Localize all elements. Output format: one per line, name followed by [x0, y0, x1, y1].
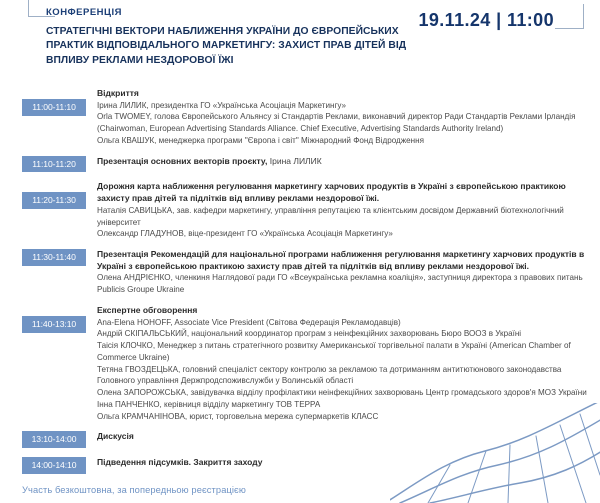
speaker-line: Олена АНДРІЄНКО, членкиня Наглядової рад…: [97, 272, 590, 295]
agenda-row: 11:30-11:40Презентація Рекомендацій для …: [0, 249, 600, 296]
speaker-line: Наталія САВИЦЬКА, зав. кафедри маркетинг…: [97, 205, 590, 228]
agenda-list: 11:00-11:10ВідкриттяІрина ЛИЛИК, президе…: [0, 88, 600, 483]
agenda-item-title: Презентація Рекомендацій для національно…: [97, 249, 590, 272]
agenda-item-title: Підведення підсумків. Закриття заходу: [97, 457, 590, 469]
agenda-row-body: Експертне обговоренняAna-Elena HOHOFF, A…: [86, 305, 590, 422]
speaker-line: Ольга КВАШУК, менеджерка програми "Європ…: [97, 135, 590, 147]
time-badge: 13:10-14:00: [22, 431, 86, 448]
agenda-row-body: Підведення підсумків. Закриття заходу: [86, 457, 590, 469]
speaker-line: Олена ЗАПОРОЖСЬКА, завідувачка відділу п…: [97, 387, 590, 399]
agenda-row-body: Презентація Рекомендацій для національно…: [86, 249, 590, 296]
agenda-item-title: Відкриття: [97, 88, 590, 100]
speaker-line: Ольга КРАМЧАНІНОВА, юрист, торговельна м…: [97, 411, 590, 423]
agenda-item-title-main: Відкриття: [97, 88, 139, 98]
agenda-row: 11:20-11:30Дорожня карта наближення регу…: [0, 181, 600, 240]
time-badge: 11:00-11:10: [22, 99, 86, 116]
agenda-item-title: Дорожня карта наближення регулювання мар…: [97, 181, 590, 204]
agenda-item-title-main: Підведення підсумків. Закриття заходу: [97, 457, 262, 467]
speaker-line: Таісія КЛОЧКО, Менеджер з питань стратег…: [97, 340, 590, 363]
agenda-item-title-main: Дискусія: [97, 431, 134, 441]
agenda-item-title: Презентація основних векторів проєкту, І…: [97, 156, 590, 168]
time-badge: 14:00-14:10: [22, 457, 86, 474]
agenda-item-title-main: Презентація Рекомендацій для національно…: [97, 249, 584, 271]
agenda-item-title-main: Експертне обговорення: [97, 305, 197, 315]
speaker-line: Тетяна ГВОЗДЕЦЬКА, головний спеціаліст с…: [97, 364, 590, 387]
event-datetime: 19.11.24 | 11:00: [418, 10, 554, 31]
speaker-line: Андрій СКІПАЛЬСЬКИЙ, національний коорди…: [97, 328, 590, 340]
speaker-line: Ірина ЛИЛИК, президентка ГО «Українська …: [97, 100, 590, 112]
agenda-item-title: Дискусія: [97, 431, 590, 443]
agenda-item-title-main: Дорожня карта наближення регулювання мар…: [97, 181, 566, 203]
page-title: СТРАТЕГІЧНІ ВЕКТОРИ НАБЛИЖЕННЯ УКРАЇНИ Д…: [46, 25, 436, 69]
time-badge: 11:30-11:40: [22, 249, 86, 266]
time-badge: 11:20-11:30: [22, 192, 86, 209]
agenda-item-title: Експертне обговорення: [97, 305, 590, 317]
speaker-line: Ana-Elena HOHOFF, Associate Vice Preside…: [97, 317, 590, 329]
agenda-row: 11:00-11:10ВідкриттяІрина ЛИЛИК, президе…: [0, 88, 600, 147]
agenda-row: 13:10-14:00Дискусія: [0, 431, 600, 448]
registration-note: Участь безкоштовна, за попередньою реєст…: [22, 485, 246, 495]
agenda-item-title-speaker: Ірина ЛИЛИК: [267, 156, 321, 166]
agenda-row-body: Дорожня карта наближення регулювання мар…: [86, 181, 590, 240]
agenda-row: 11:40-13:10Експертне обговоренняAna-Elen…: [0, 305, 600, 422]
time-badge: 11:40-13:10: [22, 316, 86, 333]
conference-agenda-poster: КОНФЕРЕНЦІЯ СТРАТЕГІЧНІ ВЕКТОРИ НАБЛИЖЕН…: [0, 0, 600, 503]
time-badge: 11:10-11:20: [22, 156, 86, 173]
agenda-row-body: ВідкриттяІрина ЛИЛИК, президентка ГО «Ук…: [86, 88, 590, 147]
speaker-line: Orla TWOMEY, голова Європейського Альянс…: [97, 111, 590, 134]
speaker-line: Олександр ГЛАДУНОВ, віце-президент ГО «У…: [97, 228, 590, 240]
agenda-row-body: Презентація основних векторів проєкту, І…: [86, 156, 590, 168]
agenda-row: 14:00-14:10Підведення підсумків. Закритт…: [0, 457, 600, 474]
agenda-item-title-main: Презентація основних векторів проєкту,: [97, 156, 267, 166]
agenda-row: 11:10-11:20Презентація основних векторів…: [0, 156, 600, 173]
speaker-line: Інна ПАНЧЕНКО, керівниця відділу маркети…: [97, 399, 590, 411]
agenda-row-body: Дискусія: [86, 431, 590, 443]
